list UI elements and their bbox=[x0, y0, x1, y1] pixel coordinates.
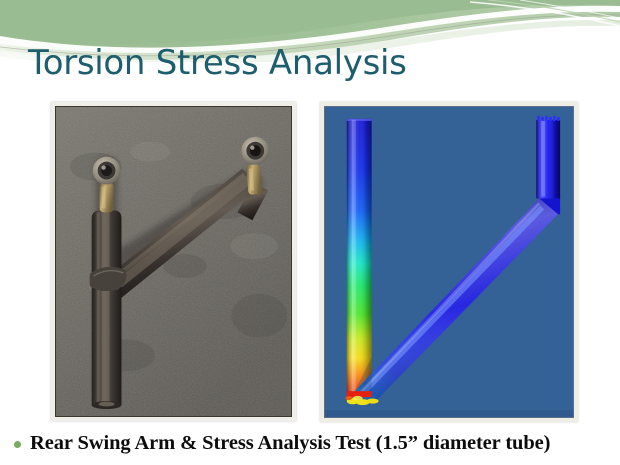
slide: Torsion Stress Analysis bbox=[0, 0, 620, 465]
slide-content bbox=[0, 0, 620, 465]
swing-arm-photo-frame bbox=[51, 102, 296, 421]
caption: Rear Swing Arm & Stress Analysis Test (1… bbox=[14, 432, 614, 455]
fea-stress-plot-frame bbox=[320, 102, 578, 422]
fea-stress-plot-image bbox=[325, 107, 573, 417]
swing-arm-photo-image bbox=[56, 107, 291, 416]
swing-arm-photo bbox=[55, 106, 292, 417]
bullet-icon bbox=[14, 441, 21, 448]
caption-text: Rear Swing Arm & Stress Analysis Test (1… bbox=[30, 432, 550, 455]
fea-stress-plot bbox=[324, 106, 574, 418]
